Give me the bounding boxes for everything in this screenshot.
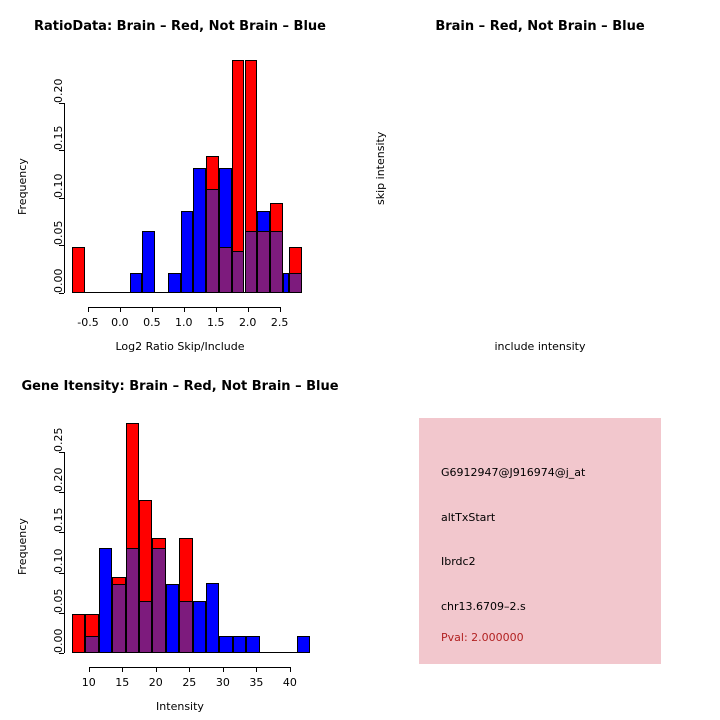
histogram-bar-overlap <box>139 601 152 653</box>
panel-info: G6912947@J916974@j_at altTxStart Ibrdc2 … <box>360 360 720 720</box>
histogram-bar-not-brain <box>193 601 206 653</box>
x-axis-tick <box>152 307 153 312</box>
ratio-histogram-x-axis-label: Log2 Ratio Skip/Include <box>0 340 360 353</box>
y-axis-tick <box>59 492 64 493</box>
histogram-bar-brain <box>72 614 85 653</box>
x-axis-tick <box>89 667 90 672</box>
gene-histogram-y-axis-label: Frequency <box>16 518 29 575</box>
ratio-histogram-plot-area: 0.000.050.100.150.20-0.50.00.51.01.52.02… <box>72 60 302 293</box>
x-axis-tick <box>280 307 281 312</box>
x-axis-tick <box>184 307 185 312</box>
y-axis-tick <box>59 150 64 151</box>
histogram-bar-overlap <box>270 231 283 293</box>
info-box: G6912947@J916974@j_at altTxStart Ibrdc2 … <box>419 418 661 664</box>
y-axis-tick <box>59 293 64 294</box>
histogram-bar-brain <box>72 247 85 293</box>
histogram-bar-overlap <box>232 251 245 293</box>
x-axis-tick <box>122 667 123 672</box>
x-axis-tick <box>248 307 249 312</box>
histogram-bar-not-brain <box>168 273 181 293</box>
histogram-bar-not-brain <box>166 584 179 653</box>
y-axis-tick <box>59 245 64 246</box>
histogram-bar-not-brain <box>193 168 206 293</box>
histogram-bar-overlap <box>219 247 232 293</box>
gene-histogram-plot-area: 0.000.050.100.150.200.2510152025303540 <box>72 420 310 653</box>
scatter-title: Brain – Red, Not Brain – Blue <box>360 19 720 34</box>
histogram-bar-overlap <box>206 189 219 293</box>
histogram-bar-not-brain <box>206 583 219 653</box>
histogram-bar-not-brain <box>99 548 112 653</box>
histogram-bar-not-brain <box>142 231 155 293</box>
histogram-bar-overlap <box>245 231 258 293</box>
panel-ratio-histogram: RatioData: Brain – Red, Not Brain – Blue… <box>0 0 360 360</box>
x-axis-tick <box>256 667 257 672</box>
histogram-bar-not-brain <box>219 636 232 653</box>
x-axis-tick <box>290 667 291 672</box>
probe-id-text: G6912947@J916974@j_at <box>441 466 585 479</box>
gene-histogram-x-axis-label: Intensity <box>0 700 360 713</box>
histogram-bar-overlap <box>289 273 302 293</box>
histogram-bar-not-brain <box>181 211 194 293</box>
y-axis-tick <box>59 532 64 533</box>
x-axis-tick <box>120 307 121 312</box>
x-axis-tick <box>189 667 190 672</box>
panel-gene-histogram: Gene Itensity: Brain – Red, Not Brain – … <box>0 360 360 720</box>
ratio-histogram-y-axis-label: Frequency <box>16 158 29 215</box>
histogram-bar-not-brain <box>246 636 259 653</box>
histogram-bar-overlap <box>126 548 139 653</box>
scatter-x-axis-label: include intensity <box>360 340 720 353</box>
histogram-bar-overlap <box>112 584 125 653</box>
scatter-y-axis-label: skip intensity <box>374 132 387 205</box>
event-type-text: altTxStart <box>441 511 495 524</box>
gene-symbol-text: Ibrdc2 <box>441 555 476 568</box>
histogram-bar-overlap <box>152 548 165 653</box>
panel-scatter: Brain – Red, Not Brain – Blue 1015202530… <box>360 0 720 360</box>
histogram-bar-overlap <box>85 636 98 653</box>
histogram-bar-overlap <box>257 231 270 293</box>
histogram-bar-not-brain <box>233 636 246 653</box>
ratio-histogram-title: RatioData: Brain – Red, Not Brain – Blue <box>0 19 360 34</box>
histogram-bar-overlap <box>179 601 192 653</box>
x-axis-tick-label: 40 <box>260 676 320 689</box>
x-axis-tick <box>223 667 224 672</box>
x-axis-tick-label: 2.5 <box>250 316 310 329</box>
histogram-bar-not-brain <box>297 636 310 653</box>
x-axis-tick <box>216 307 217 312</box>
y-axis-tick <box>59 452 64 453</box>
pval-text: Pval: 2.000000 <box>441 631 524 644</box>
locus-text: chr13.6709–2.s <box>441 600 526 613</box>
y-axis-tick <box>59 653 64 654</box>
x-axis-tick <box>156 667 157 672</box>
histogram-bar-not-brain <box>130 273 143 293</box>
x-axis-tick <box>88 307 89 312</box>
y-axis-tick <box>59 198 64 199</box>
gene-histogram-title: Gene Itensity: Brain – Red, Not Brain – … <box>0 379 360 394</box>
